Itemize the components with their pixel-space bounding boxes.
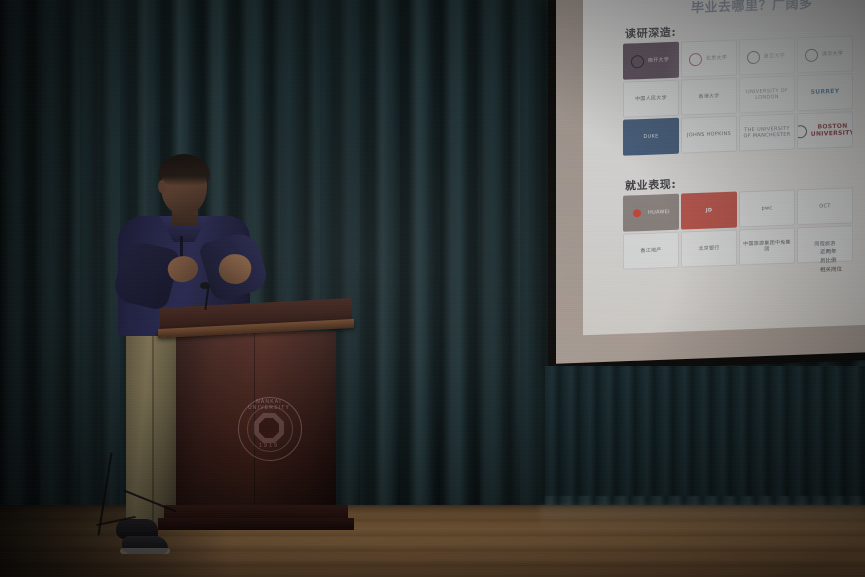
logo-duke: DUKE — [623, 118, 679, 156]
microphone-icon — [200, 282, 210, 289]
auditorium-photo: 毕业去哪里？广阔多 读研深造: 南开大学 北京大学 复旦大学 清华大学 — [0, 0, 865, 577]
seal-icon — [747, 50, 760, 63]
logo-boston-university: BOSTON UNIVERSITY — [797, 111, 853, 149]
lower-curtain-band — [545, 366, 865, 516]
projection-screen: 毕业去哪里？广阔多 读研深造: 南开大学 北京大学 复旦大学 清华大学 — [583, 0, 865, 335]
slide-side-note: 近两年 员比例 相关岗位 — [820, 247, 864, 275]
logo-jd-com: JD — [681, 192, 737, 230]
logo-oct-group: OCT — [797, 187, 853, 225]
logo-fudan-university: 复旦大学 — [739, 37, 795, 75]
seal-icon — [797, 125, 807, 138]
stage-floor-reflection — [540, 505, 865, 535]
speaker-shoe-sole — [120, 548, 170, 554]
logo-tsinghua-university: 清华大学 — [797, 35, 853, 73]
podium-plinth — [158, 518, 354, 530]
logo-university-of-surrey: SURREY — [797, 73, 853, 111]
huawei-flower-icon — [630, 206, 644, 221]
speaker-trouser-seam — [152, 336, 154, 522]
graduate-school-logo-grid: 南开大学 北京大学 复旦大学 清华大学 中国人民大学 — [623, 35, 855, 156]
seal-icon — [805, 48, 818, 61]
logo-pwc: pwc — [739, 189, 795, 227]
logo-bank-of-beijing: 北京银行 — [681, 230, 737, 268]
logo-renmin-university: 中国人民大学 — [623, 80, 679, 118]
curtain-left-shadow — [0, 0, 120, 530]
logo-huawei: HUAWEI — [623, 194, 679, 232]
logo-china-travel-service: 中国旅游集团中免集团 — [739, 227, 795, 265]
logo-university-of-hong-kong: 香港大学 — [681, 78, 737, 116]
logo-nankai-university: 南开大学 — [623, 42, 679, 80]
seal-octagon-emblem-icon — [254, 413, 284, 443]
seal-university-name: NANKAI UNIVERSITY — [238, 399, 300, 411]
speaker-ear — [158, 180, 166, 193]
logo-xiangjiang-real-estate: 香江地产 — [623, 232, 679, 270]
logo-university-of-manchester: THE UNIVERSITY OF MANCHESTER — [739, 113, 795, 151]
seal-icon — [631, 54, 644, 67]
slide-title: 毕业去哪里？广阔多 — [691, 0, 813, 16]
logo-university-of-london: UNIVERSITY OF LONDON — [739, 75, 795, 113]
logo-johns-hopkins-university: JOHNS HOPKINS — [681, 116, 737, 154]
logo-peking-university: 北京大学 — [681, 40, 737, 78]
seal-icon — [689, 52, 702, 65]
seal-founding-year: 1919 — [238, 443, 300, 449]
side-note-line-3: 相关岗位 — [820, 265, 864, 275]
section-heading-graduate-study: 读研深造: — [625, 24, 676, 42]
presentation-slide: 毕业去哪里？广阔多 读研深造: 南开大学 北京大学 复旦大学 清华大学 — [583, 0, 865, 335]
section-heading-employment: 就业表现: — [625, 176, 676, 194]
